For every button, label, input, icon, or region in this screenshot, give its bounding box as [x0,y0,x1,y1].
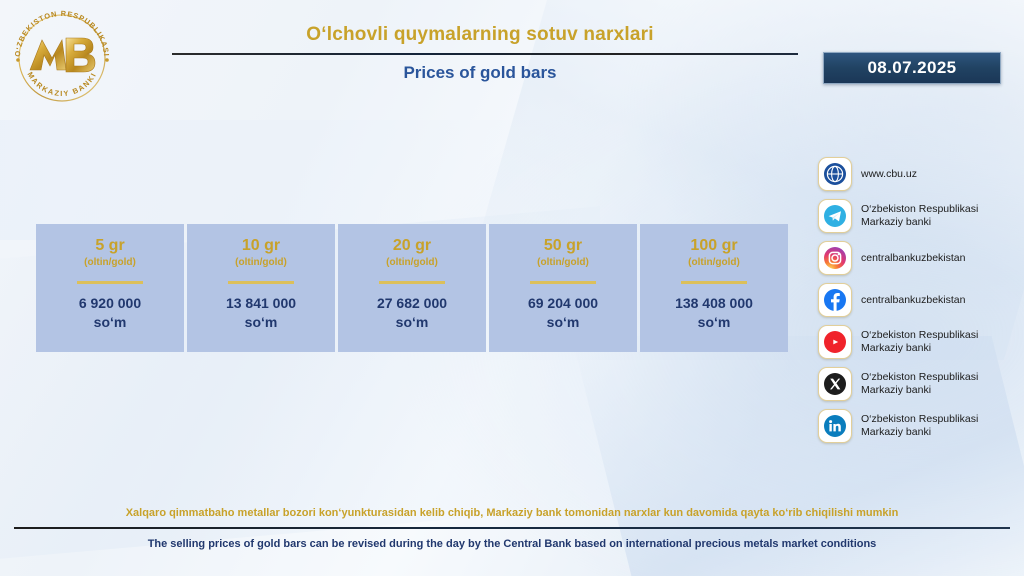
social-link-linkedin[interactable]: O‘zbekiston Respublikasi Markaziy banki [818,407,1022,445]
card-subtitle-label: (oltin/gold) [84,256,136,270]
social-link-text: centralbankuzbekistan [861,252,965,265]
price-card: 5 gr (oltin/gold) 6 920 000 so‘m [36,224,184,352]
card-price-value: 13 841 000 [226,294,296,313]
card-weight-label: 10 gr [242,236,280,255]
page-title-en: Prices of gold bars [150,61,810,85]
social-link-instagram[interactable]: centralbankuzbekistan [818,239,1022,277]
card-weight-label: 20 gr [393,236,431,255]
svg-text:MARKAZIY BANKI: MARKAZIY BANKI [26,70,99,98]
social-link-youtube[interactable]: O‘zbekiston Respublikasi Markaziy banki [818,323,1022,361]
card-subtitle-label: (oltin/gold) [386,256,438,270]
social-link-line1: O‘zbekiston Respublikasi [861,203,978,216]
card-divider [228,281,294,284]
instagram-icon[interactable] [818,241,852,275]
social-link-line1: www.cbu.uz [861,168,917,181]
card-divider [681,281,747,284]
social-link-text: O‘zbekiston Respublikasi Markaziy banki [861,203,978,229]
card-subtitle-label: (oltin/gold) [688,256,740,270]
social-link-text: O‘zbekiston Respublikasi Markaziy banki [861,329,978,355]
price-card: 10 gr (oltin/gold) 13 841 000 so‘m [187,224,335,352]
central-bank-logo: O‘ZBEKISTON RESPUBLIKASI MARKAZIY BANKI [8,8,124,106]
social-link-line2: Markaziy banki [861,426,978,439]
social-link-website[interactable]: www.cbu.uz [818,155,1022,193]
card-currency-unit: so‘m [94,313,127,332]
globe-website-icon[interactable] [818,157,852,191]
header: O‘lchovli quymalarning sotuv narxlari Pr… [150,22,810,85]
card-weight-label: 100 gr [690,236,737,255]
bank-seal-icon: O‘ZBEKISTON RESPUBLIKASI MARKAZIY BANKI [8,8,124,106]
social-link-facebook[interactable]: centralbankuzbekistan [818,281,1022,319]
card-subtitle-label: (oltin/gold) [537,256,589,270]
social-link-text: www.cbu.uz [861,168,917,181]
social-link-text: O‘zbekiston Respublikasi Markaziy banki [861,371,978,397]
card-currency-unit: so‘m [245,313,278,332]
price-card: 100 gr (oltin/gold) 138 408 000 so‘m [640,224,788,352]
social-link-x-twitter[interactable]: O‘zbekiston Respublikasi Markaziy banki [818,365,1022,403]
linkedin-icon[interactable] [818,409,852,443]
card-price-value: 6 920 000 [79,294,141,313]
social-link-line1: O‘zbekiston Respublikasi [861,371,978,384]
footer: Xalqaro qimmatbaho metallar bozori kon‘y… [0,505,1024,552]
social-link-line2: Markaziy banki [861,384,978,397]
price-card: 20 gr (oltin/gold) 27 682 000 so‘m [338,224,486,352]
social-link-line1: centralbankuzbekistan [861,252,965,265]
price-card-list: 5 gr (oltin/gold) 6 920 000 so‘m 10 gr (… [36,224,788,352]
card-currency-unit: so‘m [547,313,580,332]
card-currency-unit: so‘m [396,313,429,332]
card-price-value: 138 408 000 [675,294,753,313]
social-link-text: centralbankuzbekistan [861,294,965,307]
card-currency-unit: so‘m [698,313,731,332]
card-price-value: 69 204 000 [528,294,598,313]
footer-note-en: The selling prices of gold bars can be r… [0,536,1024,552]
card-divider [530,281,596,284]
social-link-line1: O‘zbekiston Respublikasi [861,413,978,426]
social-link-line1: centralbankuzbekistan [861,294,965,307]
social-link-telegram[interactable]: O‘zbekiston Respublikasi Markaziy banki [818,197,1022,235]
background-sweep-left [0,120,820,240]
card-divider [77,281,143,284]
facebook-icon[interactable] [818,283,852,317]
card-divider [379,281,445,284]
footer-note-uz: Xalqaro qimmatbaho metallar bozori kon‘y… [0,505,1024,521]
youtube-icon[interactable] [818,325,852,359]
social-link-text: O‘zbekiston Respublikasi Markaziy banki [861,413,978,439]
card-price-value: 27 682 000 [377,294,447,313]
page-title-uz: O‘lchovli quymalarning sotuv narxlari [150,22,810,48]
card-subtitle-label: (oltin/gold) [235,256,287,270]
card-weight-label: 5 gr [95,236,124,255]
social-link-line1: O‘zbekiston Respublikasi [861,329,978,342]
price-card: 50 gr (oltin/gold) 69 204 000 so‘m [489,224,637,352]
x-twitter-icon[interactable] [818,367,852,401]
card-weight-label: 50 gr [544,236,582,255]
social-links-list: www.cbu.uz O‘zbekiston Respublikasi Mark… [818,155,1022,449]
social-link-line2: Markaziy banki [861,342,978,355]
title-divider [172,53,798,55]
date-badge-value: 08.07.2025 [867,58,956,78]
date-badge: 08.07.2025 [823,52,1001,84]
social-link-line2: Markaziy banki [861,216,978,229]
footer-divider [14,527,1010,529]
telegram-icon[interactable] [818,199,852,233]
